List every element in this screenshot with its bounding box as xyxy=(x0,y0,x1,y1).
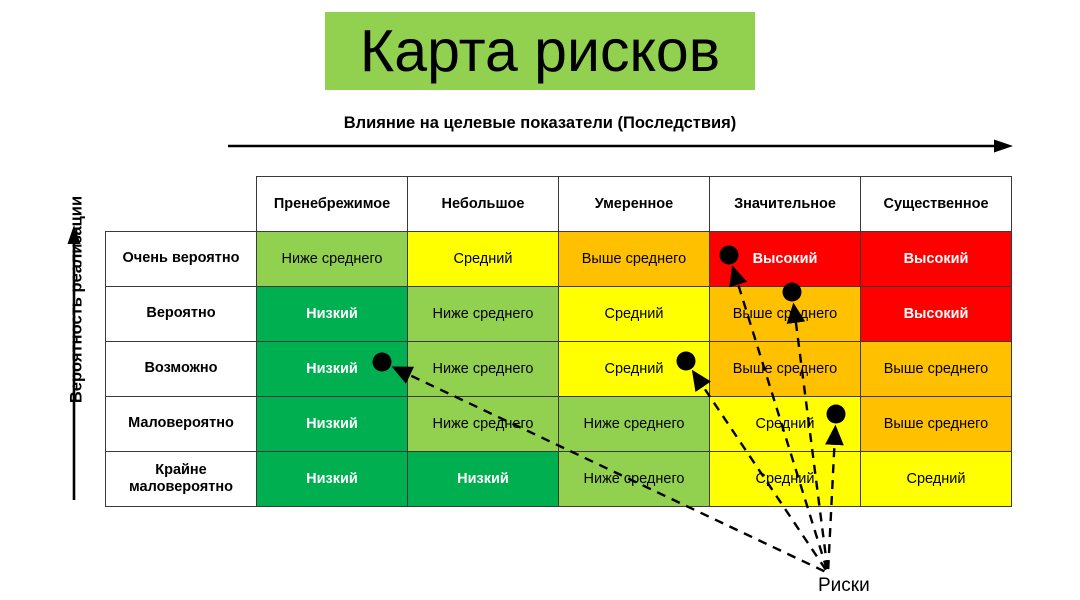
risk-matrix: Пренебрежимое Небольшое Умеренное Значит… xyxy=(105,176,1012,507)
risk-matrix-body: Пренебрежимое Небольшое Умеренное Значит… xyxy=(106,177,1012,507)
matrix-row: Возможно Низкий Ниже среднего Средний Вы… xyxy=(106,341,1012,396)
column-header-2: Умеренное xyxy=(559,177,710,232)
matrix-cell-1-1[interactable]: Ниже среднего xyxy=(408,286,559,341)
risks-caption: Риски xyxy=(818,575,870,597)
row-header-0: Очень вероятно xyxy=(106,231,257,286)
matrix-row: Вероятно Низкий Ниже среднего Средний Вы… xyxy=(106,286,1012,341)
matrix-cell-4-1[interactable]: Низкий xyxy=(408,451,559,506)
arrow-right-icon xyxy=(228,138,1013,154)
matrix-cell-4-3[interactable]: Средний xyxy=(710,451,861,506)
arrow-up-icon xyxy=(66,225,82,500)
matrix-cell-3-0[interactable]: Низкий xyxy=(257,396,408,451)
matrix-cell-3-4[interactable]: Выше среднего xyxy=(861,396,1012,451)
matrix-cell-4-2[interactable]: Ниже среднего xyxy=(559,451,710,506)
matrix-cell-4-4[interactable]: Средний xyxy=(861,451,1012,506)
column-header-0: Пренебрежимое xyxy=(257,177,408,232)
matrix-cell-0-3[interactable]: Высокий xyxy=(710,231,861,286)
matrix-cell-1-0[interactable]: Низкий xyxy=(257,286,408,341)
matrix-cell-2-2[interactable]: Средний xyxy=(559,341,710,396)
matrix-cell-2-3[interactable]: Выше среднего xyxy=(710,341,861,396)
matrix-cell-3-2[interactable]: Ниже среднего xyxy=(559,396,710,451)
matrix-row: Очень вероятно Ниже среднего Средний Выш… xyxy=(106,231,1012,286)
matrix-cell-0-4[interactable]: Высокий xyxy=(861,231,1012,286)
matrix-row: Крайне маловероятно Низкий Низкий Ниже с… xyxy=(106,451,1012,506)
row-header-3: Маловероятно xyxy=(106,396,257,451)
title-banner: Карта рисков xyxy=(325,12,755,90)
matrix-cell-4-0[interactable]: Низкий xyxy=(257,451,408,506)
column-header-1: Небольшое xyxy=(408,177,559,232)
matrix-cell-0-2[interactable]: Выше среднего xyxy=(559,231,710,286)
column-header-3: Значительное xyxy=(710,177,861,232)
row-header-2: Возможно xyxy=(106,341,257,396)
matrix-cell-2-1[interactable]: Ниже среднего xyxy=(408,341,559,396)
matrix-cell-2-0[interactable]: Низкий xyxy=(257,341,408,396)
row-header-1: Вероятно xyxy=(106,286,257,341)
matrix-cell-3-1[interactable]: Ниже среднего xyxy=(408,396,559,451)
matrix-cell-1-4[interactable]: Высокий xyxy=(861,286,1012,341)
page-title: Карта рисков xyxy=(360,22,720,81)
matrix-cell-0-1[interactable]: Средний xyxy=(408,231,559,286)
matrix-cell-1-2[interactable]: Средний xyxy=(559,286,710,341)
row-header-4: Крайне маловероятно xyxy=(106,451,257,506)
matrix-cell-0-0[interactable]: Ниже среднего xyxy=(257,231,408,286)
matrix-row: Маловероятно Низкий Ниже среднего Ниже с… xyxy=(106,396,1012,451)
matrix-cell-1-3[interactable]: Выше среднего xyxy=(710,286,861,341)
matrix-cell-2-4[interactable]: Выше среднего xyxy=(861,341,1012,396)
x-axis-label: Влияние на целевые показатели (Последств… xyxy=(0,114,1080,133)
matrix-cell-3-3[interactable]: Средний xyxy=(710,396,861,451)
matrix-header-row: Пренебрежимое Небольшое Умеренное Значит… xyxy=(106,177,1012,232)
column-header-4: Существенное xyxy=(861,177,1012,232)
matrix-corner xyxy=(106,177,257,232)
